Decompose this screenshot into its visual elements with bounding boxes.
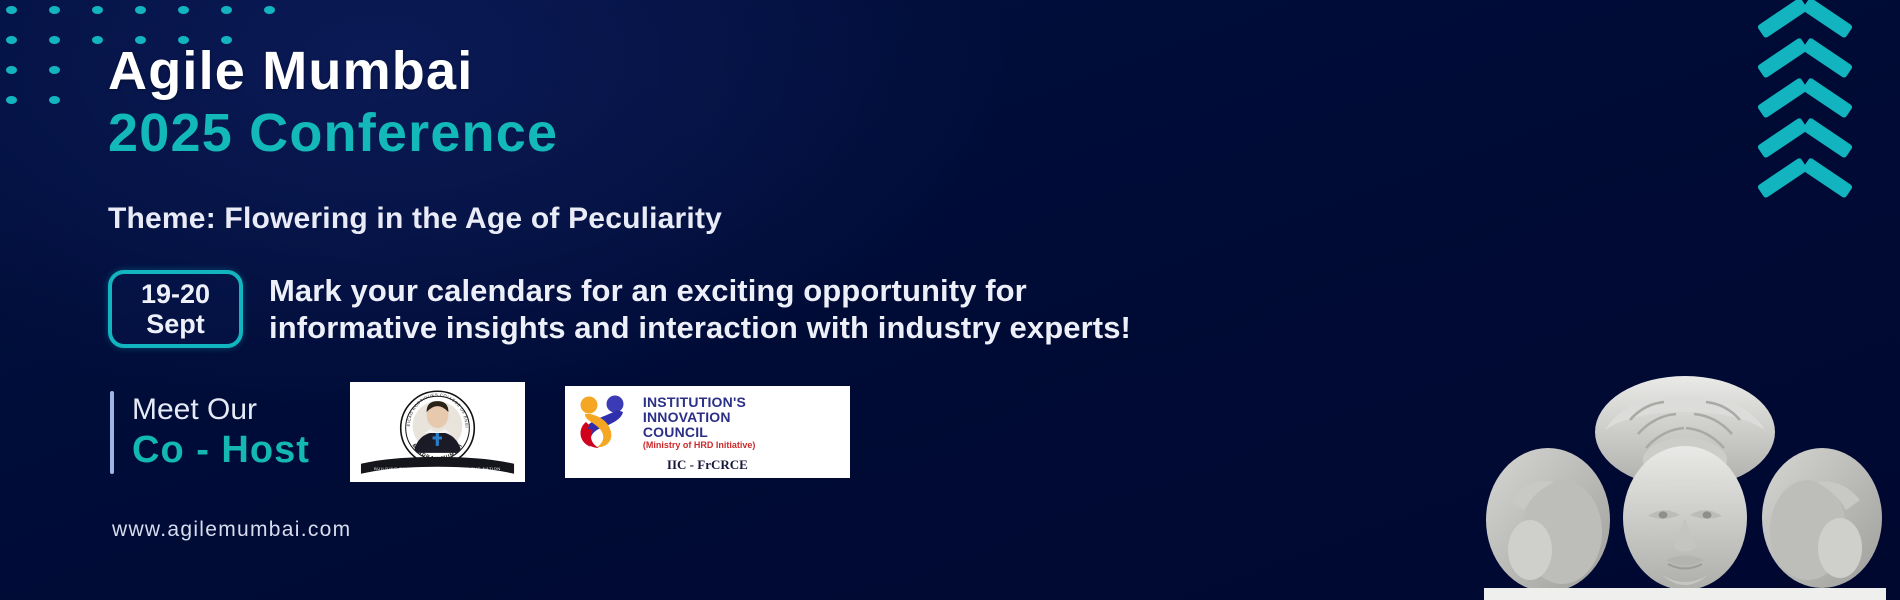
date-badge: 19-20 Sept: [108, 270, 243, 348]
dot: [92, 36, 103, 44]
date-days: 19-20: [141, 279, 210, 309]
vertical-rule-divider: [110, 391, 114, 474]
cohost-label: Meet Our Co - Host: [108, 391, 310, 474]
page-title: Agile Mumbai: [108, 42, 1408, 100]
iic-line-3: COUNCIL: [643, 425, 756, 440]
dot: [178, 6, 189, 14]
cta-line-1: Mark your calendars for an exciting oppo…: [269, 272, 1131, 310]
dot: [135, 6, 146, 14]
trimurti-sculpture-image: [1470, 360, 1900, 600]
date-and-cta-row: 19-20 Sept Mark your calendars for an ex…: [108, 270, 1408, 348]
date-month: Sept: [146, 309, 205, 339]
conference-theme: Theme: Flowering in the Age of Peculiari…: [108, 202, 1408, 236]
iic-logo-mark: [573, 392, 635, 454]
dot: [221, 6, 232, 14]
dot: [92, 6, 103, 14]
dot: [264, 6, 275, 14]
cta-message: Mark your calendars for an exciting oppo…: [269, 272, 1131, 348]
frcrce-logo-graphic: FR. CONCEICAO RODRIGUES COLLEGE OF ENGIN…: [353, 384, 522, 480]
iic-line-2: INNOVATION: [643, 410, 756, 425]
dot: [49, 36, 60, 44]
iic-logo[interactable]: INSTITUTION'S INNOVATION COUNCIL (Minist…: [565, 386, 850, 478]
cohost-row: Meet Our Co - Host FR. CONCEICAO RODRIGU…: [108, 382, 1408, 482]
dot: [49, 6, 60, 14]
cohost-label-bottom: Co - Host: [132, 428, 310, 474]
dot: [6, 96, 17, 104]
iic-footer-text: IIC - FrCRCE: [573, 457, 842, 473]
dot: [6, 6, 17, 14]
cohost-label-top: Meet Our: [132, 391, 310, 429]
website-url[interactable]: www.agilemumbai.com: [112, 518, 351, 542]
banner-content: Agile Mumbai 2025 Conference Theme: Flow…: [108, 42, 1408, 482]
iic-line-1: INSTITUTION'S: [643, 395, 756, 410]
svg-text:BUILDING ENGINEERS WHO CAN BUI: BUILDING ENGINEERS WHO CAN BUILD THE NAT…: [374, 466, 501, 471]
dot: [6, 66, 17, 74]
frcrce-college-logo[interactable]: FR. CONCEICAO RODRIGUES COLLEGE OF ENGIN…: [350, 382, 525, 482]
chevron-stack-decoration: [1762, 18, 1848, 216]
iic-ministry-note: (Ministry of HRD Initiative): [643, 441, 756, 451]
page-subtitle: 2025 Conference: [108, 102, 1408, 164]
dot: [49, 66, 60, 74]
conference-banner: Agile Mumbai 2025 Conference Theme: Flow…: [0, 0, 1900, 600]
cta-line-2: informative insights and interaction wit…: [269, 309, 1131, 347]
chevron-up-icon: [1762, 178, 1848, 216]
dot: [49, 96, 60, 104]
dot: [6, 36, 17, 44]
